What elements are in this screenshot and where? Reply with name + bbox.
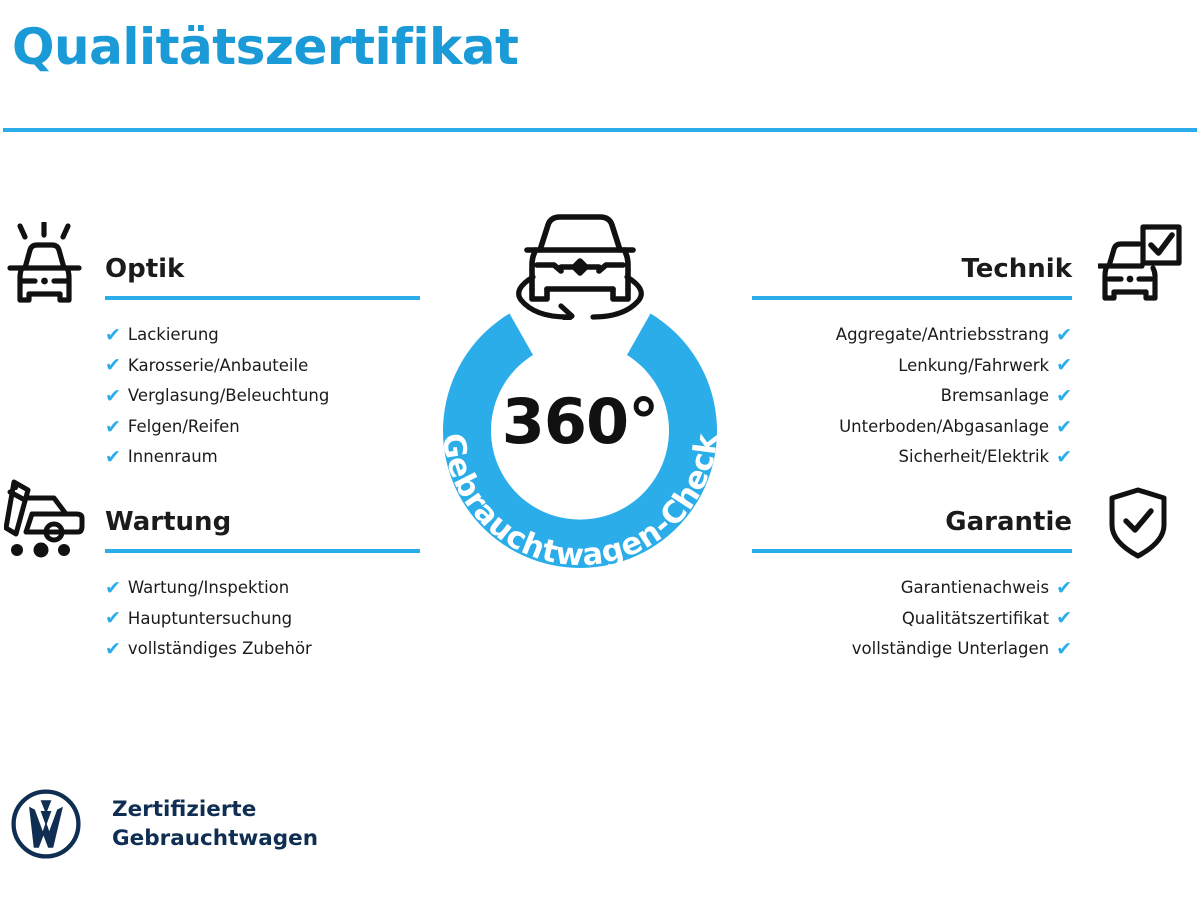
list-item: Sicherheit/Elektrik✔ xyxy=(752,442,1072,473)
list-item: Bremsanlage✔ xyxy=(752,381,1072,412)
list-item-label: Sicherheit/Elektrik xyxy=(899,442,1050,473)
check-icon: ✔ xyxy=(105,418,121,437)
check-icon: ✔ xyxy=(105,609,121,628)
list-item-label: Innenraum xyxy=(128,442,218,473)
list-item-label: Lackierung xyxy=(128,320,219,351)
footer-text: Zertifizierte Gebrauchtwagen xyxy=(112,795,318,853)
footer-logo-block: Zertifizierte Gebrauchtwagen xyxy=(10,788,318,860)
list-item-label: Bremsanlage xyxy=(941,381,1049,412)
list-item-label: vollständiges Zubehör xyxy=(128,634,312,665)
check-icon: ✔ xyxy=(105,579,121,598)
check-icon: ✔ xyxy=(1056,640,1072,659)
list-item: ✔Hauptuntersuchung xyxy=(105,604,420,635)
section-garantie-list: Garantienachweis✔ Qualitätszertifikat✔ v… xyxy=(752,573,1072,665)
check-icon: ✔ xyxy=(1056,609,1072,628)
section-optik: Optik ✔Lackierung ✔Karosserie/Anbauteile… xyxy=(105,252,420,473)
list-item: Garantienachweis✔ xyxy=(752,573,1072,604)
list-item: ✔Verglasung/Beleuchtung xyxy=(105,381,420,412)
footer-line-1: Zertifizierte xyxy=(112,795,318,824)
section-optik-list: ✔Lackierung ✔Karosserie/Anbauteile ✔Verg… xyxy=(105,320,420,473)
section-optik-divider xyxy=(105,296,420,300)
shield-check-icon xyxy=(1107,487,1169,563)
section-garantie-divider xyxy=(752,549,1072,553)
check-icon: ✔ xyxy=(105,356,121,375)
list-item-label: Aggregate/Antriebsstrang xyxy=(836,320,1049,351)
list-item-label: Garantienachweis xyxy=(901,573,1049,604)
badge-360-gebrauchtwagen-check: Gebrauchtwagen-Check 360° xyxy=(395,205,765,595)
section-wartung-title: Wartung xyxy=(105,505,420,539)
section-wartung-divider xyxy=(105,549,420,553)
car-rotate-360-icon xyxy=(507,205,653,320)
check-icon: ✔ xyxy=(105,326,121,345)
section-technik-title: Technik xyxy=(752,252,1072,286)
check-icon: ✔ xyxy=(1056,326,1072,345)
list-item: ✔Felgen/Reifen xyxy=(105,412,420,443)
list-item: ✔Lackierung xyxy=(105,320,420,351)
pen-car-service-icon xyxy=(4,476,86,564)
check-icon: ✔ xyxy=(1056,418,1072,437)
check-icon: ✔ xyxy=(105,448,121,467)
section-optik-header: Optik xyxy=(105,252,420,300)
volkswagen-logo-icon xyxy=(10,788,82,860)
list-item: ✔Wartung/Inspektion xyxy=(105,573,420,604)
list-item: ✔Innenraum xyxy=(105,442,420,473)
badge-360-value: 360° xyxy=(395,391,765,453)
section-technik-divider xyxy=(752,296,1072,300)
section-wartung-list: ✔Wartung/Inspektion ✔Hauptuntersuchung ✔… xyxy=(105,573,420,665)
list-item: Lenkung/Fahrwerk✔ xyxy=(752,351,1072,382)
car-checkbox-icon xyxy=(1098,224,1182,308)
check-icon: ✔ xyxy=(105,387,121,406)
section-garantie: Garantie Garantienachweis✔ Qualitätszert… xyxy=(752,505,1072,665)
list-item-label: Unterboden/Abgasanlage xyxy=(839,412,1049,443)
check-icon: ✔ xyxy=(1056,356,1072,375)
list-item-label: Hauptuntersuchung xyxy=(128,604,292,635)
section-technik-header: Technik xyxy=(752,252,1072,300)
list-item-label: Verglasung/Beleuchtung xyxy=(128,381,329,412)
list-item-label: Qualitätszertifikat xyxy=(902,604,1049,635)
list-item-label: vollständige Unterlagen xyxy=(852,634,1049,665)
check-icon: ✔ xyxy=(1056,448,1072,467)
list-item: Unterboden/Abgasanlage✔ xyxy=(752,412,1072,443)
list-item-label: Wartung/Inspektion xyxy=(128,573,289,604)
list-item-label: Felgen/Reifen xyxy=(128,412,240,443)
section-garantie-title: Garantie xyxy=(752,505,1072,539)
check-icon: ✔ xyxy=(105,640,121,659)
header-divider xyxy=(3,128,1197,132)
section-technik-list: Aggregate/Antriebsstrang✔ Lenkung/Fahrwe… xyxy=(752,320,1072,473)
section-technik: Technik Aggregate/Antriebsstrang✔ Lenkun… xyxy=(752,252,1072,473)
check-icon: ✔ xyxy=(1056,579,1072,598)
list-item-label: Karosserie/Anbauteile xyxy=(128,351,308,382)
list-item-label: Lenkung/Fahrwerk xyxy=(898,351,1049,382)
list-item: vollständige Unterlagen✔ xyxy=(752,634,1072,665)
footer-line-2: Gebrauchtwagen xyxy=(112,824,318,853)
section-optik-title: Optik xyxy=(105,252,420,286)
car-front-lights-icon xyxy=(6,222,84,310)
check-icon: ✔ xyxy=(1056,387,1072,406)
section-wartung: Wartung ✔Wartung/Inspektion ✔Hauptunters… xyxy=(105,505,420,665)
section-garantie-header: Garantie xyxy=(752,505,1072,553)
list-item: Qualitätszertifikat✔ xyxy=(752,604,1072,635)
list-item: ✔vollständiges Zubehör xyxy=(105,634,420,665)
list-item: ✔Karosserie/Anbauteile xyxy=(105,351,420,382)
section-wartung-header: Wartung xyxy=(105,505,420,553)
list-item: Aggregate/Antriebsstrang✔ xyxy=(752,320,1072,351)
page-title: Qualitätszertifikat xyxy=(12,22,518,72)
